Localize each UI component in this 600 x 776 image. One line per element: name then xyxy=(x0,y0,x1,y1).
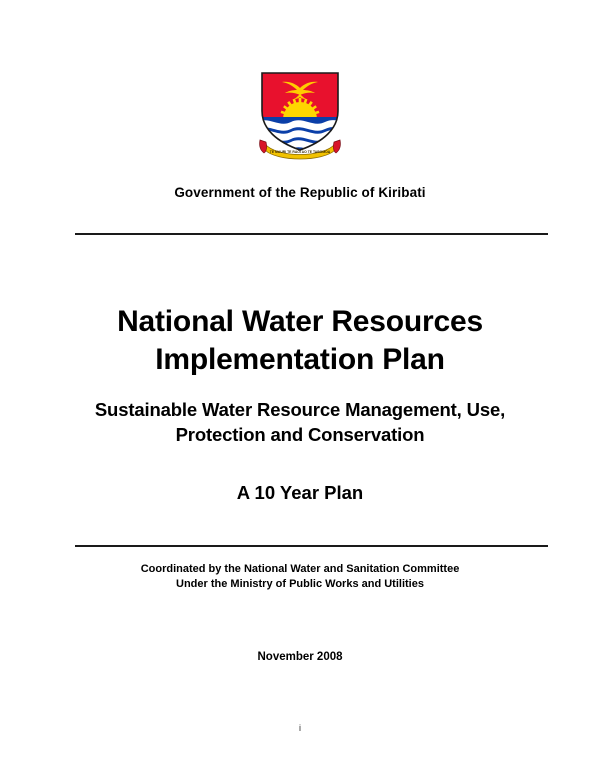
page-title-line-1: National Water Resources xyxy=(60,303,540,341)
divider-bottom xyxy=(75,545,548,547)
page-title-line-2: Implementation Plan xyxy=(60,341,540,379)
credits-block: Coordinated by the National Water and Sa… xyxy=(60,562,540,592)
coat-of-arms-container: TE MAURI TE RAOI AO TE TABOMOA xyxy=(0,66,600,167)
page-subtitle: Sustainable Water Resource Management, U… xyxy=(58,398,542,448)
document-page: TE MAURI TE RAOI AO TE TABOMOA Governmen… xyxy=(0,0,600,776)
credits-line-1: Coordinated by the National Water and Sa… xyxy=(60,562,540,577)
page-number: i xyxy=(0,723,600,733)
government-line: Government of the Republic of Kiribati xyxy=(0,185,600,200)
coat-of-arms-motto-text: TE MAURI TE RAOI AO TE TABOMOA xyxy=(270,150,331,154)
page-title: National Water Resources Implementation … xyxy=(60,303,540,380)
page-subtitle-line-2: Protection and Conservation xyxy=(58,423,542,448)
plan-duration: A 10 Year Plan xyxy=(0,482,600,504)
page-subtitle-line-1: Sustainable Water Resource Management, U… xyxy=(58,398,542,423)
document-date: November 2008 xyxy=(0,651,600,663)
divider-top xyxy=(75,233,548,235)
kiribati-coat-of-arms-icon: TE MAURI TE RAOI AO TE TABOMOA xyxy=(257,66,343,162)
credits-line-2: Under the Ministry of Public Works and U… xyxy=(60,577,540,592)
